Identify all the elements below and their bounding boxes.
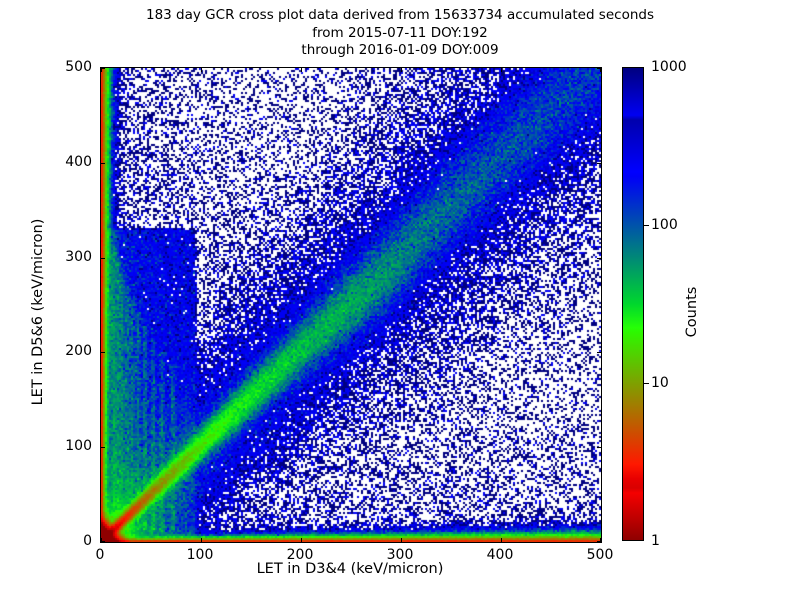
y-ticklabel-400: 400 — [42, 154, 92, 170]
y-tick-200 — [597, 352, 601, 353]
y-tick-0 — [597, 541, 601, 542]
colorbar-tick-10 — [644, 383, 649, 384]
scatter-density-canvas — [101, 68, 601, 542]
y-ticklabel-200: 200 — [42, 343, 92, 359]
y-tick-400 — [597, 163, 601, 164]
x-tick-400 — [501, 538, 502, 542]
y-tick-500 — [597, 68, 601, 69]
x-tick-400 — [501, 68, 502, 72]
colorbar-ticklabel-1000: 1000 — [651, 59, 687, 75]
x-tick-200 — [301, 68, 302, 72]
y-tick-100 — [597, 447, 601, 448]
y-tick-300 — [101, 258, 105, 259]
chart-title-line-2: from 2015-07-11 DOY:192 — [0, 25, 800, 43]
y-axis-label: LET in D5&6 (keV/micron) — [30, 162, 46, 462]
x-tick-200 — [301, 538, 302, 542]
y-tick-100 — [101, 447, 105, 448]
plot-area — [100, 67, 602, 543]
colorbar: 1101001000 — [622, 67, 644, 541]
y-ticklabel-100: 100 — [42, 438, 92, 454]
colorbar-ticklabel-100: 100 — [651, 217, 678, 233]
y-ticklabel-300: 300 — [42, 249, 92, 265]
x-tick-300 — [401, 538, 402, 542]
y-ticklabel-500: 500 — [42, 59, 92, 75]
chart-title-line-1: 183 day GCR cross plot data derived from… — [0, 7, 800, 25]
y-tick-0 — [101, 541, 105, 542]
y-tick-200 — [101, 352, 105, 353]
figure-root: 183 day GCR cross plot data derived from… — [0, 0, 800, 600]
x-tick-100 — [201, 538, 202, 542]
chart-title: 183 day GCR cross plot data derived from… — [0, 7, 800, 60]
x-tick-300 — [401, 68, 402, 72]
colorbar-label: Counts — [684, 212, 700, 412]
chart-title-line-3: through 2016-01-09 DOY:009 — [0, 42, 800, 60]
colorbar-ticklabel-10: 10 — [651, 375, 669, 391]
y-tick-500 — [101, 68, 105, 69]
y-tick-300 — [597, 258, 601, 259]
colorbar-tick-100 — [644, 225, 649, 226]
x-axis-label: LET in D3&4 (keV/micron) — [100, 561, 600, 577]
colorbar-ticklabel-1: 1 — [651, 533, 660, 549]
y-tick-400 — [101, 163, 105, 164]
x-tick-100 — [201, 68, 202, 72]
colorbar-gradient — [622, 67, 644, 541]
y-ticklabel-0: 0 — [42, 533, 92, 549]
